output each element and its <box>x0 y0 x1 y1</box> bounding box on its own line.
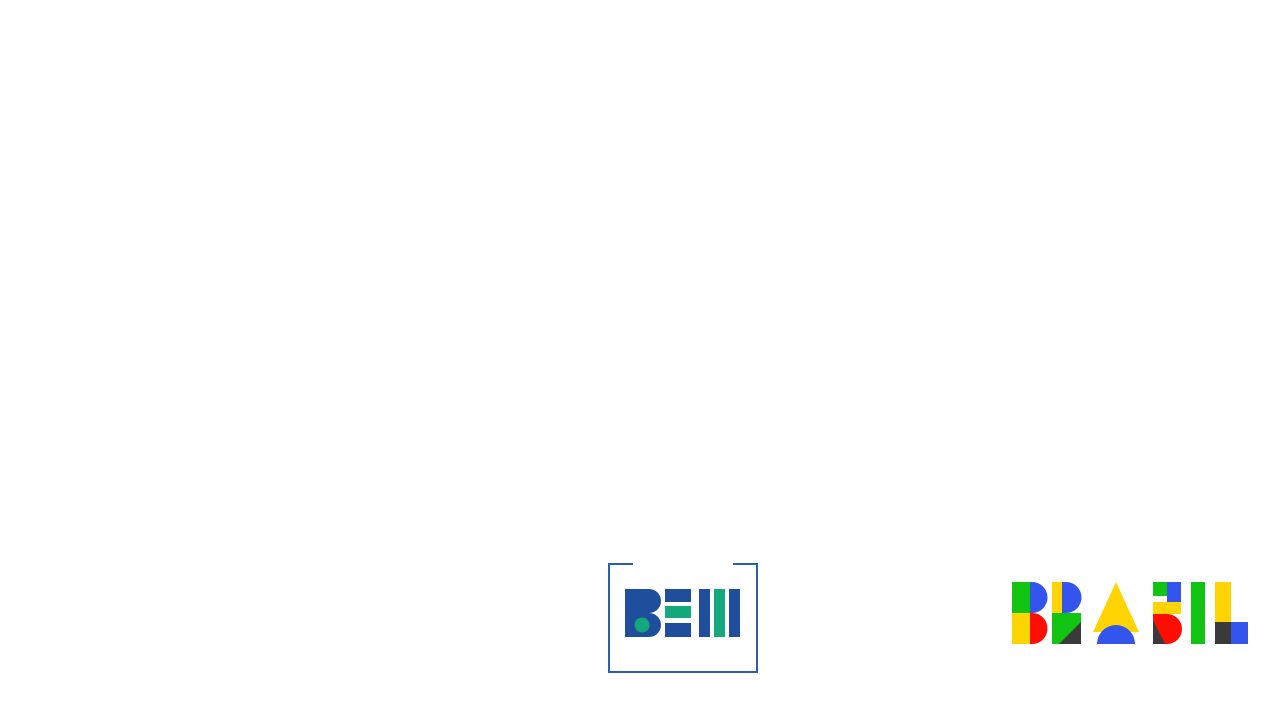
governo-do-brasil-logo <box>1005 556 1255 674</box>
content-card <box>30 28 1250 693</box>
logo-row <box>30 543 1250 683</box>
brasil-wordmark-icon <box>1012 582 1248 644</box>
lei-do-bem-logo <box>608 563 758 673</box>
lei-do-bem-wordmark-icon <box>625 589 743 637</box>
lei-do-bem-frame-gap <box>633 561 733 565</box>
poster-canvas <box>0 0 1280 720</box>
